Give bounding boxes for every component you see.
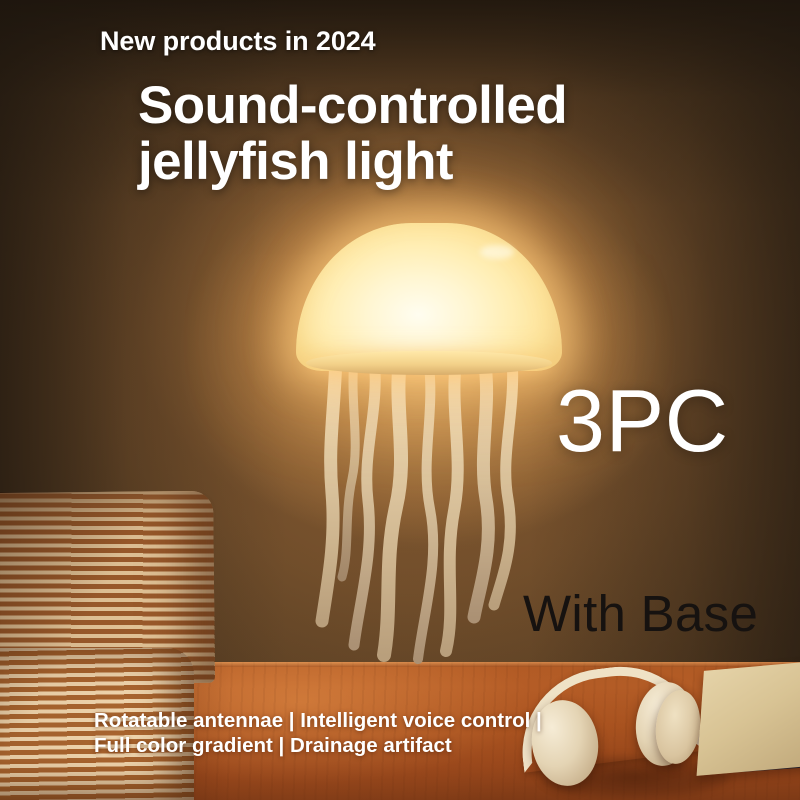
feature-list-text: Rotatable antennae | Intelligent voice c… bbox=[94, 708, 554, 758]
product-ad-banner: New products in 2024 Sound-controlled je… bbox=[0, 0, 800, 800]
headline-line-1: Sound-controlled bbox=[138, 78, 567, 134]
lamp-highlight bbox=[480, 245, 514, 259]
lamp-dome-rim bbox=[306, 351, 552, 375]
headline-line-2: jellyfish light bbox=[138, 134, 567, 190]
headline: Sound-controlled jellyfish light bbox=[138, 78, 567, 190]
quantity-badge: 3PC bbox=[556, 370, 729, 472]
eyebrow-text: New products in 2024 bbox=[100, 26, 376, 57]
base-included-note: With Base bbox=[523, 584, 758, 643]
paper-sheet bbox=[697, 660, 800, 776]
lamp-dome bbox=[296, 223, 562, 371]
